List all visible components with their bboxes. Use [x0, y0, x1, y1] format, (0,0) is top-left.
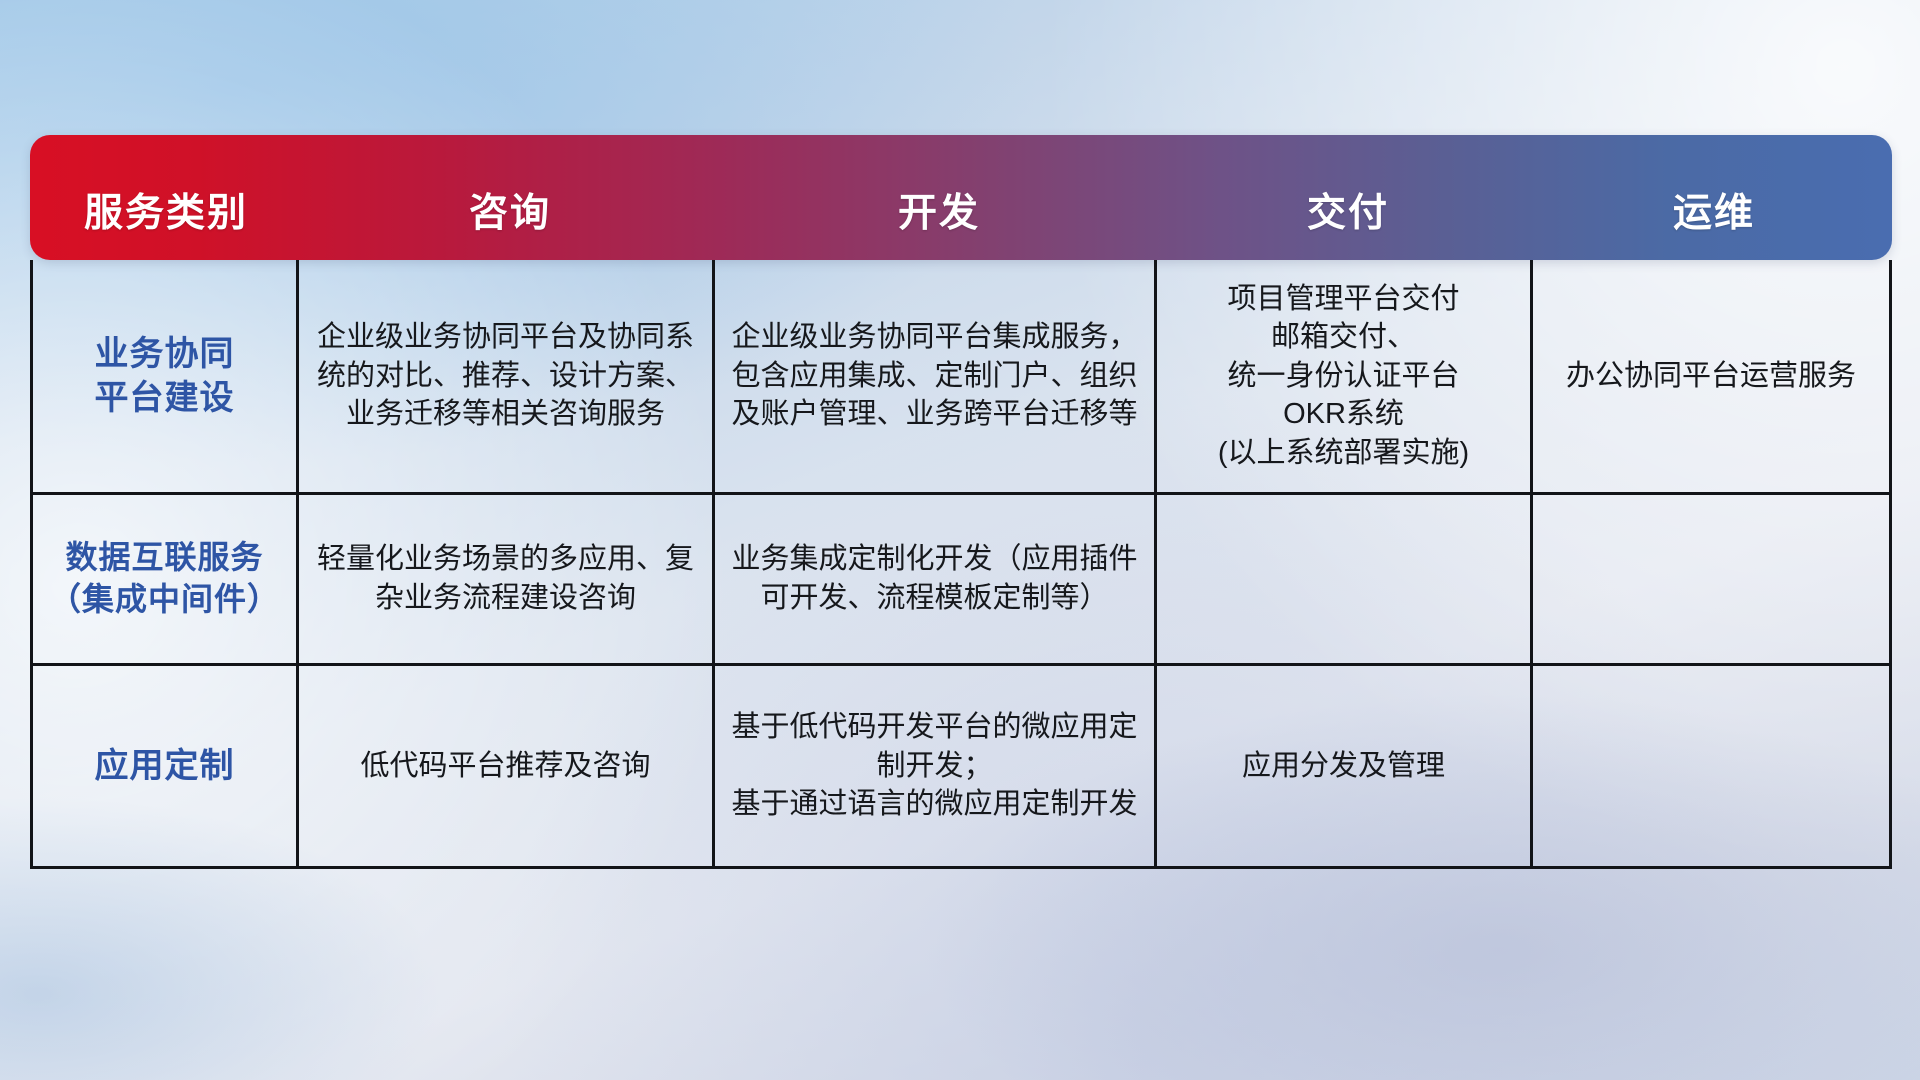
cell-delivery: 项目管理平台交付 邮箱交付、 统一身份认证平台 OKR系统 (以上系统部署实施) [1157, 260, 1533, 492]
table-header-row: 服务类别 咨询 开发 交付 运维 [30, 135, 1892, 260]
row-category-label: 数据互联服务 （集成中间件） [33, 495, 299, 663]
cell-development: 业务集成定制化开发（应用插件 可开发、流程模板定制等） [715, 495, 1157, 663]
cell-delivery [1157, 495, 1533, 663]
column-header-development: 开发 [718, 135, 1160, 260]
column-header-delivery: 交付 [1160, 135, 1536, 260]
column-header-operations: 运维 [1536, 135, 1892, 260]
table-row: 应用定制 低代码平台推荐及咨询 基于低代码开发平台的微应用定 制开发； 基于通过… [33, 666, 1889, 866]
cell-consulting: 轻量化业务场景的多应用、复 杂业务流程建设咨询 [299, 495, 715, 663]
cell-development: 企业级业务协同平台集成服务， 包含应用集成、定制门户、组织 及账户管理、业务跨平… [715, 260, 1157, 492]
row-category-label: 应用定制 [33, 666, 299, 866]
cell-operations [1533, 666, 1889, 866]
cell-consulting: 低代码平台推荐及咨询 [299, 666, 715, 866]
table-body: 业务协同 平台建设 企业级业务协同平台及协同系 统的对比、推荐、设计方案、 业务… [30, 260, 1892, 869]
service-matrix-table: 服务类别 咨询 开发 交付 运维 业务协同 平台建设 企业级业务协同平台及协同系… [30, 135, 1892, 869]
cell-operations: 办公协同平台运营服务 [1533, 260, 1889, 492]
column-header-category: 服务类别 [30, 135, 302, 260]
row-category-label: 业务协同 平台建设 [33, 260, 299, 492]
cell-consulting: 企业级业务协同平台及协同系 统的对比、推荐、设计方案、 业务迁移等相关咨询服务 [299, 260, 715, 492]
column-header-consulting: 咨询 [302, 135, 718, 260]
cell-development: 基于低代码开发平台的微应用定 制开发； 基于通过语言的微应用定制开发 [715, 666, 1157, 866]
table-row: 业务协同 平台建设 企业级业务协同平台及协同系 统的对比、推荐、设计方案、 业务… [33, 260, 1889, 495]
cell-operations [1533, 495, 1889, 663]
cell-delivery: 应用分发及管理 [1157, 666, 1533, 866]
table-row: 数据互联服务 （集成中间件） 轻量化业务场景的多应用、复 杂业务流程建设咨询 业… [33, 495, 1889, 666]
